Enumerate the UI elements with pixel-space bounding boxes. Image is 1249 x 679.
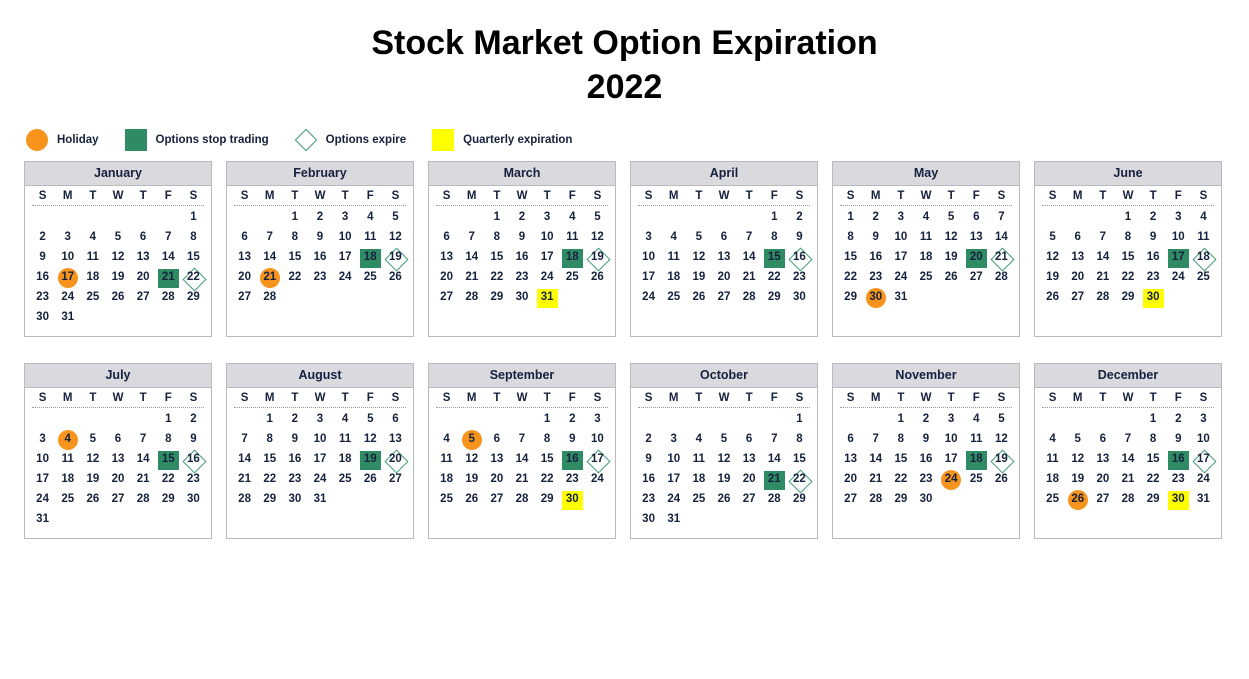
day-cell-april-30[interactable]: 30 bbox=[787, 288, 812, 308]
day-cell-october-20[interactable]: 20 bbox=[737, 470, 762, 490]
day-cell-february-4[interactable]: 4 bbox=[358, 208, 383, 228]
day-cell-november-26[interactable]: 26 bbox=[989, 470, 1014, 490]
day-cell-november-1[interactable]: 1 bbox=[888, 410, 913, 430]
day-cell-august-24[interactable]: 24 bbox=[307, 470, 332, 490]
day-cell-april-22[interactable]: 22 bbox=[762, 268, 787, 288]
day-cell-march-24[interactable]: 24 bbox=[535, 268, 560, 288]
day-cell-december-12[interactable]: 12 bbox=[1065, 450, 1090, 470]
day-cell-april-2[interactable]: 2 bbox=[787, 208, 812, 228]
day-cell-august-21[interactable]: 21 bbox=[232, 470, 257, 490]
day-cell-july-25[interactable]: 25 bbox=[55, 490, 80, 510]
day-cell-march-22[interactable]: 22 bbox=[484, 268, 509, 288]
day-cell-june-2[interactable]: 2 bbox=[1141, 208, 1166, 228]
day-cell-june-22[interactable]: 22 bbox=[1115, 268, 1140, 288]
day-cell-march-16[interactable]: 16 bbox=[509, 248, 534, 268]
day-cell-january-7[interactable]: 7 bbox=[156, 228, 181, 248]
day-cell-november-4[interactable]: 4 bbox=[964, 410, 989, 430]
day-cell-december-17[interactable]: 17 bbox=[1191, 450, 1216, 470]
day-cell-july-17[interactable]: 17 bbox=[30, 470, 55, 490]
day-cell-october-17[interactable]: 17 bbox=[661, 470, 686, 490]
day-cell-august-17[interactable]: 17 bbox=[307, 450, 332, 470]
day-cell-june-11[interactable]: 11 bbox=[1191, 228, 1216, 248]
day-cell-january-23[interactable]: 23 bbox=[30, 288, 55, 308]
day-cell-july-12[interactable]: 12 bbox=[80, 450, 105, 470]
day-cell-november-9[interactable]: 9 bbox=[913, 430, 938, 450]
day-cell-january-31[interactable]: 31 bbox=[55, 308, 80, 328]
day-cell-june-20[interactable]: 20 bbox=[1065, 268, 1090, 288]
day-cell-may-28[interactable]: 28 bbox=[989, 268, 1014, 288]
day-cell-july-30[interactable]: 30 bbox=[181, 490, 206, 510]
day-cell-october-7[interactable]: 7 bbox=[762, 430, 787, 450]
day-cell-january-9[interactable]: 9 bbox=[30, 248, 55, 268]
day-cell-march-30[interactable]: 30 bbox=[509, 288, 534, 308]
day-cell-november-18[interactable]: 18 bbox=[964, 450, 989, 470]
day-cell-november-28[interactable]: 28 bbox=[863, 490, 888, 510]
day-cell-march-9[interactable]: 9 bbox=[509, 228, 534, 248]
day-cell-november-22[interactable]: 22 bbox=[888, 470, 913, 490]
day-cell-march-27[interactable]: 27 bbox=[434, 288, 459, 308]
day-cell-october-13[interactable]: 13 bbox=[737, 450, 762, 470]
day-cell-may-6[interactable]: 6 bbox=[964, 208, 989, 228]
day-cell-december-29[interactable]: 29 bbox=[1141, 490, 1166, 510]
day-cell-january-27[interactable]: 27 bbox=[131, 288, 156, 308]
day-cell-october-11[interactable]: 11 bbox=[686, 450, 711, 470]
day-cell-december-2[interactable]: 2 bbox=[1166, 410, 1191, 430]
day-cell-november-11[interactable]: 11 bbox=[964, 430, 989, 450]
day-cell-june-3[interactable]: 3 bbox=[1166, 208, 1191, 228]
day-cell-february-28[interactable]: 28 bbox=[257, 288, 282, 308]
day-cell-july-23[interactable]: 23 bbox=[181, 470, 206, 490]
day-cell-september-17[interactable]: 17 bbox=[585, 450, 610, 470]
day-cell-february-6[interactable]: 6 bbox=[232, 228, 257, 248]
day-cell-november-5[interactable]: 5 bbox=[989, 410, 1014, 430]
day-cell-september-27[interactable]: 27 bbox=[484, 490, 509, 510]
day-cell-october-1[interactable]: 1 bbox=[787, 410, 812, 430]
day-cell-april-27[interactable]: 27 bbox=[711, 288, 736, 308]
day-cell-july-24[interactable]: 24 bbox=[30, 490, 55, 510]
day-cell-march-15[interactable]: 15 bbox=[484, 248, 509, 268]
day-cell-july-15[interactable]: 15 bbox=[156, 450, 181, 470]
day-cell-may-17[interactable]: 17 bbox=[888, 248, 913, 268]
day-cell-february-10[interactable]: 10 bbox=[333, 228, 358, 248]
day-cell-november-13[interactable]: 13 bbox=[838, 450, 863, 470]
day-cell-july-20[interactable]: 20 bbox=[105, 470, 130, 490]
day-cell-december-30[interactable]: 30 bbox=[1166, 490, 1191, 510]
day-cell-april-1[interactable]: 1 bbox=[762, 208, 787, 228]
day-cell-january-13[interactable]: 13 bbox=[131, 248, 156, 268]
day-cell-july-31[interactable]: 31 bbox=[30, 510, 55, 530]
day-cell-october-23[interactable]: 23 bbox=[636, 490, 661, 510]
day-cell-february-3[interactable]: 3 bbox=[333, 208, 358, 228]
day-cell-july-9[interactable]: 9 bbox=[181, 430, 206, 450]
day-cell-may-4[interactable]: 4 bbox=[913, 208, 938, 228]
day-cell-april-29[interactable]: 29 bbox=[762, 288, 787, 308]
day-cell-june-18[interactable]: 18 bbox=[1191, 248, 1216, 268]
day-cell-april-18[interactable]: 18 bbox=[661, 268, 686, 288]
day-cell-december-25[interactable]: 25 bbox=[1040, 490, 1065, 510]
day-cell-april-17[interactable]: 17 bbox=[636, 268, 661, 288]
day-cell-june-23[interactable]: 23 bbox=[1141, 268, 1166, 288]
day-cell-february-1[interactable]: 1 bbox=[282, 208, 307, 228]
day-cell-november-27[interactable]: 27 bbox=[838, 490, 863, 510]
day-cell-august-5[interactable]: 5 bbox=[358, 410, 383, 430]
day-cell-december-9[interactable]: 9 bbox=[1166, 430, 1191, 450]
day-cell-december-3[interactable]: 3 bbox=[1191, 410, 1216, 430]
day-cell-april-14[interactable]: 14 bbox=[737, 248, 762, 268]
day-cell-august-11[interactable]: 11 bbox=[333, 430, 358, 450]
day-cell-may-24[interactable]: 24 bbox=[888, 268, 913, 288]
day-cell-may-26[interactable]: 26 bbox=[939, 268, 964, 288]
day-cell-march-2[interactable]: 2 bbox=[509, 208, 534, 228]
day-cell-april-24[interactable]: 24 bbox=[636, 288, 661, 308]
day-cell-february-14[interactable]: 14 bbox=[257, 248, 282, 268]
day-cell-september-2[interactable]: 2 bbox=[560, 410, 585, 430]
day-cell-june-17[interactable]: 17 bbox=[1166, 248, 1191, 268]
day-cell-july-6[interactable]: 6 bbox=[105, 430, 130, 450]
day-cell-december-1[interactable]: 1 bbox=[1141, 410, 1166, 430]
day-cell-june-6[interactable]: 6 bbox=[1065, 228, 1090, 248]
day-cell-september-23[interactable]: 23 bbox=[560, 470, 585, 490]
day-cell-march-12[interactable]: 12 bbox=[585, 228, 610, 248]
day-cell-january-19[interactable]: 19 bbox=[105, 268, 130, 288]
day-cell-february-20[interactable]: 20 bbox=[232, 268, 257, 288]
day-cell-july-1[interactable]: 1 bbox=[156, 410, 181, 430]
day-cell-july-5[interactable]: 5 bbox=[80, 430, 105, 450]
day-cell-december-28[interactable]: 28 bbox=[1115, 490, 1140, 510]
day-cell-december-8[interactable]: 8 bbox=[1141, 430, 1166, 450]
day-cell-september-13[interactable]: 13 bbox=[484, 450, 509, 470]
day-cell-july-18[interactable]: 18 bbox=[55, 470, 80, 490]
day-cell-december-4[interactable]: 4 bbox=[1040, 430, 1065, 450]
day-cell-october-21[interactable]: 21 bbox=[762, 470, 787, 490]
day-cell-august-29[interactable]: 29 bbox=[257, 490, 282, 510]
day-cell-september-15[interactable]: 15 bbox=[535, 450, 560, 470]
day-cell-august-2[interactable]: 2 bbox=[282, 410, 307, 430]
day-cell-february-13[interactable]: 13 bbox=[232, 248, 257, 268]
day-cell-november-14[interactable]: 14 bbox=[863, 450, 888, 470]
day-cell-january-12[interactable]: 12 bbox=[105, 248, 130, 268]
day-cell-october-30[interactable]: 30 bbox=[636, 510, 661, 530]
day-cell-august-10[interactable]: 10 bbox=[307, 430, 332, 450]
day-cell-july-19[interactable]: 19 bbox=[80, 470, 105, 490]
day-cell-february-22[interactable]: 22 bbox=[282, 268, 307, 288]
day-cell-june-25[interactable]: 25 bbox=[1191, 268, 1216, 288]
day-cell-may-12[interactable]: 12 bbox=[939, 228, 964, 248]
day-cell-december-7[interactable]: 7 bbox=[1115, 430, 1140, 450]
day-cell-march-3[interactable]: 3 bbox=[535, 208, 560, 228]
day-cell-march-23[interactable]: 23 bbox=[509, 268, 534, 288]
day-cell-november-21[interactable]: 21 bbox=[863, 470, 888, 490]
day-cell-june-21[interactable]: 21 bbox=[1090, 268, 1115, 288]
day-cell-june-19[interactable]: 19 bbox=[1040, 268, 1065, 288]
day-cell-january-14[interactable]: 14 bbox=[156, 248, 181, 268]
day-cell-july-22[interactable]: 22 bbox=[156, 470, 181, 490]
day-cell-september-9[interactable]: 9 bbox=[560, 430, 585, 450]
day-cell-march-26[interactable]: 26 bbox=[585, 268, 610, 288]
day-cell-january-26[interactable]: 26 bbox=[105, 288, 130, 308]
day-cell-december-6[interactable]: 6 bbox=[1090, 430, 1115, 450]
day-cell-march-10[interactable]: 10 bbox=[535, 228, 560, 248]
day-cell-may-25[interactable]: 25 bbox=[913, 268, 938, 288]
day-cell-march-11[interactable]: 11 bbox=[560, 228, 585, 248]
day-cell-may-19[interactable]: 19 bbox=[939, 248, 964, 268]
day-cell-april-7[interactable]: 7 bbox=[737, 228, 762, 248]
day-cell-august-12[interactable]: 12 bbox=[358, 430, 383, 450]
day-cell-november-15[interactable]: 15 bbox=[888, 450, 913, 470]
day-cell-may-7[interactable]: 7 bbox=[989, 208, 1014, 228]
day-cell-september-12[interactable]: 12 bbox=[459, 450, 484, 470]
day-cell-april-10[interactable]: 10 bbox=[636, 248, 661, 268]
day-cell-september-3[interactable]: 3 bbox=[585, 410, 610, 430]
day-cell-october-3[interactable]: 3 bbox=[661, 430, 686, 450]
day-cell-september-28[interactable]: 28 bbox=[509, 490, 534, 510]
day-cell-november-30[interactable]: 30 bbox=[913, 490, 938, 510]
day-cell-august-9[interactable]: 9 bbox=[282, 430, 307, 450]
day-cell-march-18[interactable]: 18 bbox=[560, 248, 585, 268]
day-cell-august-23[interactable]: 23 bbox=[282, 470, 307, 490]
day-cell-september-16[interactable]: 16 bbox=[560, 450, 585, 470]
day-cell-february-26[interactable]: 26 bbox=[383, 268, 408, 288]
day-cell-november-6[interactable]: 6 bbox=[838, 430, 863, 450]
day-cell-may-1[interactable]: 1 bbox=[838, 208, 863, 228]
day-cell-april-9[interactable]: 9 bbox=[787, 228, 812, 248]
day-cell-may-5[interactable]: 5 bbox=[939, 208, 964, 228]
day-cell-december-20[interactable]: 20 bbox=[1090, 470, 1115, 490]
day-cell-february-18[interactable]: 18 bbox=[358, 248, 383, 268]
day-cell-may-16[interactable]: 16 bbox=[863, 248, 888, 268]
day-cell-october-6[interactable]: 6 bbox=[737, 430, 762, 450]
day-cell-april-28[interactable]: 28 bbox=[737, 288, 762, 308]
day-cell-march-20[interactable]: 20 bbox=[434, 268, 459, 288]
day-cell-march-14[interactable]: 14 bbox=[459, 248, 484, 268]
day-cell-june-15[interactable]: 15 bbox=[1115, 248, 1140, 268]
day-cell-december-5[interactable]: 5 bbox=[1065, 430, 1090, 450]
day-cell-april-15[interactable]: 15 bbox=[762, 248, 787, 268]
day-cell-may-14[interactable]: 14 bbox=[989, 228, 1014, 248]
day-cell-september-4[interactable]: 4 bbox=[434, 430, 459, 450]
day-cell-july-26[interactable]: 26 bbox=[80, 490, 105, 510]
day-cell-may-3[interactable]: 3 bbox=[888, 208, 913, 228]
day-cell-january-21[interactable]: 21 bbox=[156, 268, 181, 288]
day-cell-october-10[interactable]: 10 bbox=[661, 450, 686, 470]
day-cell-april-5[interactable]: 5 bbox=[686, 228, 711, 248]
day-cell-december-21[interactable]: 21 bbox=[1115, 470, 1140, 490]
day-cell-may-2[interactable]: 2 bbox=[863, 208, 888, 228]
day-cell-january-20[interactable]: 20 bbox=[131, 268, 156, 288]
day-cell-july-2[interactable]: 2 bbox=[181, 410, 206, 430]
day-cell-october-28[interactable]: 28 bbox=[762, 490, 787, 510]
day-cell-november-24[interactable]: 24 bbox=[939, 470, 964, 490]
day-cell-december-31[interactable]: 31 bbox=[1191, 490, 1216, 510]
day-cell-february-7[interactable]: 7 bbox=[257, 228, 282, 248]
day-cell-august-4[interactable]: 4 bbox=[333, 410, 358, 430]
day-cell-july-13[interactable]: 13 bbox=[105, 450, 130, 470]
day-cell-march-5[interactable]: 5 bbox=[585, 208, 610, 228]
day-cell-january-17[interactable]: 17 bbox=[55, 268, 80, 288]
day-cell-november-7[interactable]: 7 bbox=[863, 430, 888, 450]
day-cell-may-21[interactable]: 21 bbox=[989, 248, 1014, 268]
day-cell-july-29[interactable]: 29 bbox=[156, 490, 181, 510]
day-cell-april-19[interactable]: 19 bbox=[686, 268, 711, 288]
day-cell-december-19[interactable]: 19 bbox=[1065, 470, 1090, 490]
day-cell-february-25[interactable]: 25 bbox=[358, 268, 383, 288]
day-cell-june-8[interactable]: 8 bbox=[1115, 228, 1140, 248]
day-cell-july-27[interactable]: 27 bbox=[105, 490, 130, 510]
day-cell-february-24[interactable]: 24 bbox=[333, 268, 358, 288]
day-cell-may-23[interactable]: 23 bbox=[863, 268, 888, 288]
day-cell-february-9[interactable]: 9 bbox=[307, 228, 332, 248]
day-cell-january-8[interactable]: 8 bbox=[181, 228, 206, 248]
day-cell-july-10[interactable]: 10 bbox=[30, 450, 55, 470]
day-cell-august-15[interactable]: 15 bbox=[257, 450, 282, 470]
day-cell-december-22[interactable]: 22 bbox=[1141, 470, 1166, 490]
day-cell-february-21[interactable]: 21 bbox=[257, 268, 282, 288]
day-cell-march-1[interactable]: 1 bbox=[484, 208, 509, 228]
day-cell-may-13[interactable]: 13 bbox=[964, 228, 989, 248]
day-cell-march-28[interactable]: 28 bbox=[459, 288, 484, 308]
day-cell-january-29[interactable]: 29 bbox=[181, 288, 206, 308]
day-cell-june-24[interactable]: 24 bbox=[1166, 268, 1191, 288]
day-cell-december-18[interactable]: 18 bbox=[1040, 470, 1065, 490]
day-cell-march-29[interactable]: 29 bbox=[484, 288, 509, 308]
day-cell-december-27[interactable]: 27 bbox=[1090, 490, 1115, 510]
day-cell-october-14[interactable]: 14 bbox=[762, 450, 787, 470]
day-cell-may-10[interactable]: 10 bbox=[888, 228, 913, 248]
day-cell-september-25[interactable]: 25 bbox=[434, 490, 459, 510]
day-cell-april-11[interactable]: 11 bbox=[661, 248, 686, 268]
day-cell-april-25[interactable]: 25 bbox=[661, 288, 686, 308]
day-cell-february-2[interactable]: 2 bbox=[307, 208, 332, 228]
day-cell-june-12[interactable]: 12 bbox=[1040, 248, 1065, 268]
day-cell-may-30[interactable]: 30 bbox=[863, 288, 888, 308]
day-cell-june-26[interactable]: 26 bbox=[1040, 288, 1065, 308]
day-cell-august-30[interactable]: 30 bbox=[282, 490, 307, 510]
day-cell-november-17[interactable]: 17 bbox=[939, 450, 964, 470]
day-cell-july-8[interactable]: 8 bbox=[156, 430, 181, 450]
day-cell-june-28[interactable]: 28 bbox=[1090, 288, 1115, 308]
day-cell-june-10[interactable]: 10 bbox=[1166, 228, 1191, 248]
day-cell-march-25[interactable]: 25 bbox=[560, 268, 585, 288]
day-cell-november-25[interactable]: 25 bbox=[964, 470, 989, 490]
day-cell-january-2[interactable]: 2 bbox=[30, 228, 55, 248]
day-cell-october-4[interactable]: 4 bbox=[686, 430, 711, 450]
day-cell-november-2[interactable]: 2 bbox=[913, 410, 938, 430]
day-cell-august-3[interactable]: 3 bbox=[307, 410, 332, 430]
day-cell-february-17[interactable]: 17 bbox=[333, 248, 358, 268]
day-cell-august-13[interactable]: 13 bbox=[383, 430, 408, 450]
day-cell-october-27[interactable]: 27 bbox=[737, 490, 762, 510]
day-cell-november-8[interactable]: 8 bbox=[888, 430, 913, 450]
day-cell-july-21[interactable]: 21 bbox=[131, 470, 156, 490]
day-cell-december-26[interactable]: 26 bbox=[1065, 490, 1090, 510]
day-cell-october-2[interactable]: 2 bbox=[636, 430, 661, 450]
day-cell-august-31[interactable]: 31 bbox=[307, 490, 332, 510]
day-cell-january-22[interactable]: 22 bbox=[181, 268, 206, 288]
day-cell-january-6[interactable]: 6 bbox=[131, 228, 156, 248]
day-cell-april-6[interactable]: 6 bbox=[711, 228, 736, 248]
day-cell-january-24[interactable]: 24 bbox=[55, 288, 80, 308]
day-cell-july-3[interactable]: 3 bbox=[30, 430, 55, 450]
day-cell-june-4[interactable]: 4 bbox=[1191, 208, 1216, 228]
day-cell-july-4[interactable]: 4 bbox=[55, 430, 80, 450]
day-cell-april-20[interactable]: 20 bbox=[711, 268, 736, 288]
day-cell-august-18[interactable]: 18 bbox=[333, 450, 358, 470]
day-cell-may-8[interactable]: 8 bbox=[838, 228, 863, 248]
day-cell-march-13[interactable]: 13 bbox=[434, 248, 459, 268]
day-cell-june-29[interactable]: 29 bbox=[1115, 288, 1140, 308]
day-cell-october-12[interactable]: 12 bbox=[711, 450, 736, 470]
day-cell-july-14[interactable]: 14 bbox=[131, 450, 156, 470]
day-cell-february-11[interactable]: 11 bbox=[358, 228, 383, 248]
day-cell-may-18[interactable]: 18 bbox=[913, 248, 938, 268]
day-cell-july-28[interactable]: 28 bbox=[131, 490, 156, 510]
day-cell-october-5[interactable]: 5 bbox=[711, 430, 736, 450]
day-cell-april-4[interactable]: 4 bbox=[661, 228, 686, 248]
day-cell-october-31[interactable]: 31 bbox=[661, 510, 686, 530]
day-cell-august-26[interactable]: 26 bbox=[358, 470, 383, 490]
day-cell-october-18[interactable]: 18 bbox=[686, 470, 711, 490]
day-cell-june-1[interactable]: 1 bbox=[1115, 208, 1140, 228]
day-cell-september-18[interactable]: 18 bbox=[434, 470, 459, 490]
day-cell-august-6[interactable]: 6 bbox=[383, 410, 408, 430]
day-cell-june-14[interactable]: 14 bbox=[1090, 248, 1115, 268]
day-cell-january-1[interactable]: 1 bbox=[181, 208, 206, 228]
day-cell-august-22[interactable]: 22 bbox=[257, 470, 282, 490]
day-cell-august-28[interactable]: 28 bbox=[232, 490, 257, 510]
day-cell-january-30[interactable]: 30 bbox=[30, 308, 55, 328]
day-cell-april-26[interactable]: 26 bbox=[686, 288, 711, 308]
day-cell-march-4[interactable]: 4 bbox=[560, 208, 585, 228]
day-cell-november-16[interactable]: 16 bbox=[913, 450, 938, 470]
day-cell-april-21[interactable]: 21 bbox=[737, 268, 762, 288]
day-cell-july-16[interactable]: 16 bbox=[181, 450, 206, 470]
day-cell-february-12[interactable]: 12 bbox=[383, 228, 408, 248]
day-cell-december-14[interactable]: 14 bbox=[1115, 450, 1140, 470]
day-cell-october-19[interactable]: 19 bbox=[711, 470, 736, 490]
day-cell-september-8[interactable]: 8 bbox=[535, 430, 560, 450]
day-cell-june-5[interactable]: 5 bbox=[1040, 228, 1065, 248]
day-cell-august-14[interactable]: 14 bbox=[232, 450, 257, 470]
day-cell-november-12[interactable]: 12 bbox=[989, 430, 1014, 450]
day-cell-september-29[interactable]: 29 bbox=[535, 490, 560, 510]
day-cell-june-16[interactable]: 16 bbox=[1141, 248, 1166, 268]
day-cell-october-26[interactable]: 26 bbox=[711, 490, 736, 510]
day-cell-july-7[interactable]: 7 bbox=[131, 430, 156, 450]
day-cell-january-15[interactable]: 15 bbox=[181, 248, 206, 268]
day-cell-september-6[interactable]: 6 bbox=[484, 430, 509, 450]
day-cell-june-27[interactable]: 27 bbox=[1065, 288, 1090, 308]
day-cell-september-1[interactable]: 1 bbox=[535, 410, 560, 430]
day-cell-june-7[interactable]: 7 bbox=[1090, 228, 1115, 248]
day-cell-may-11[interactable]: 11 bbox=[913, 228, 938, 248]
day-cell-september-7[interactable]: 7 bbox=[509, 430, 534, 450]
day-cell-may-20[interactable]: 20 bbox=[964, 248, 989, 268]
day-cell-october-15[interactable]: 15 bbox=[787, 450, 812, 470]
day-cell-february-16[interactable]: 16 bbox=[307, 248, 332, 268]
day-cell-august-7[interactable]: 7 bbox=[232, 430, 257, 450]
day-cell-may-29[interactable]: 29 bbox=[838, 288, 863, 308]
day-cell-july-11[interactable]: 11 bbox=[55, 450, 80, 470]
day-cell-february-19[interactable]: 19 bbox=[383, 248, 408, 268]
day-cell-august-8[interactable]: 8 bbox=[257, 430, 282, 450]
day-cell-december-23[interactable]: 23 bbox=[1166, 470, 1191, 490]
day-cell-september-20[interactable]: 20 bbox=[484, 470, 509, 490]
day-cell-december-15[interactable]: 15 bbox=[1141, 450, 1166, 470]
day-cell-january-16[interactable]: 16 bbox=[30, 268, 55, 288]
day-cell-september-5[interactable]: 5 bbox=[459, 430, 484, 450]
day-cell-january-4[interactable]: 4 bbox=[80, 228, 105, 248]
day-cell-april-23[interactable]: 23 bbox=[787, 268, 812, 288]
